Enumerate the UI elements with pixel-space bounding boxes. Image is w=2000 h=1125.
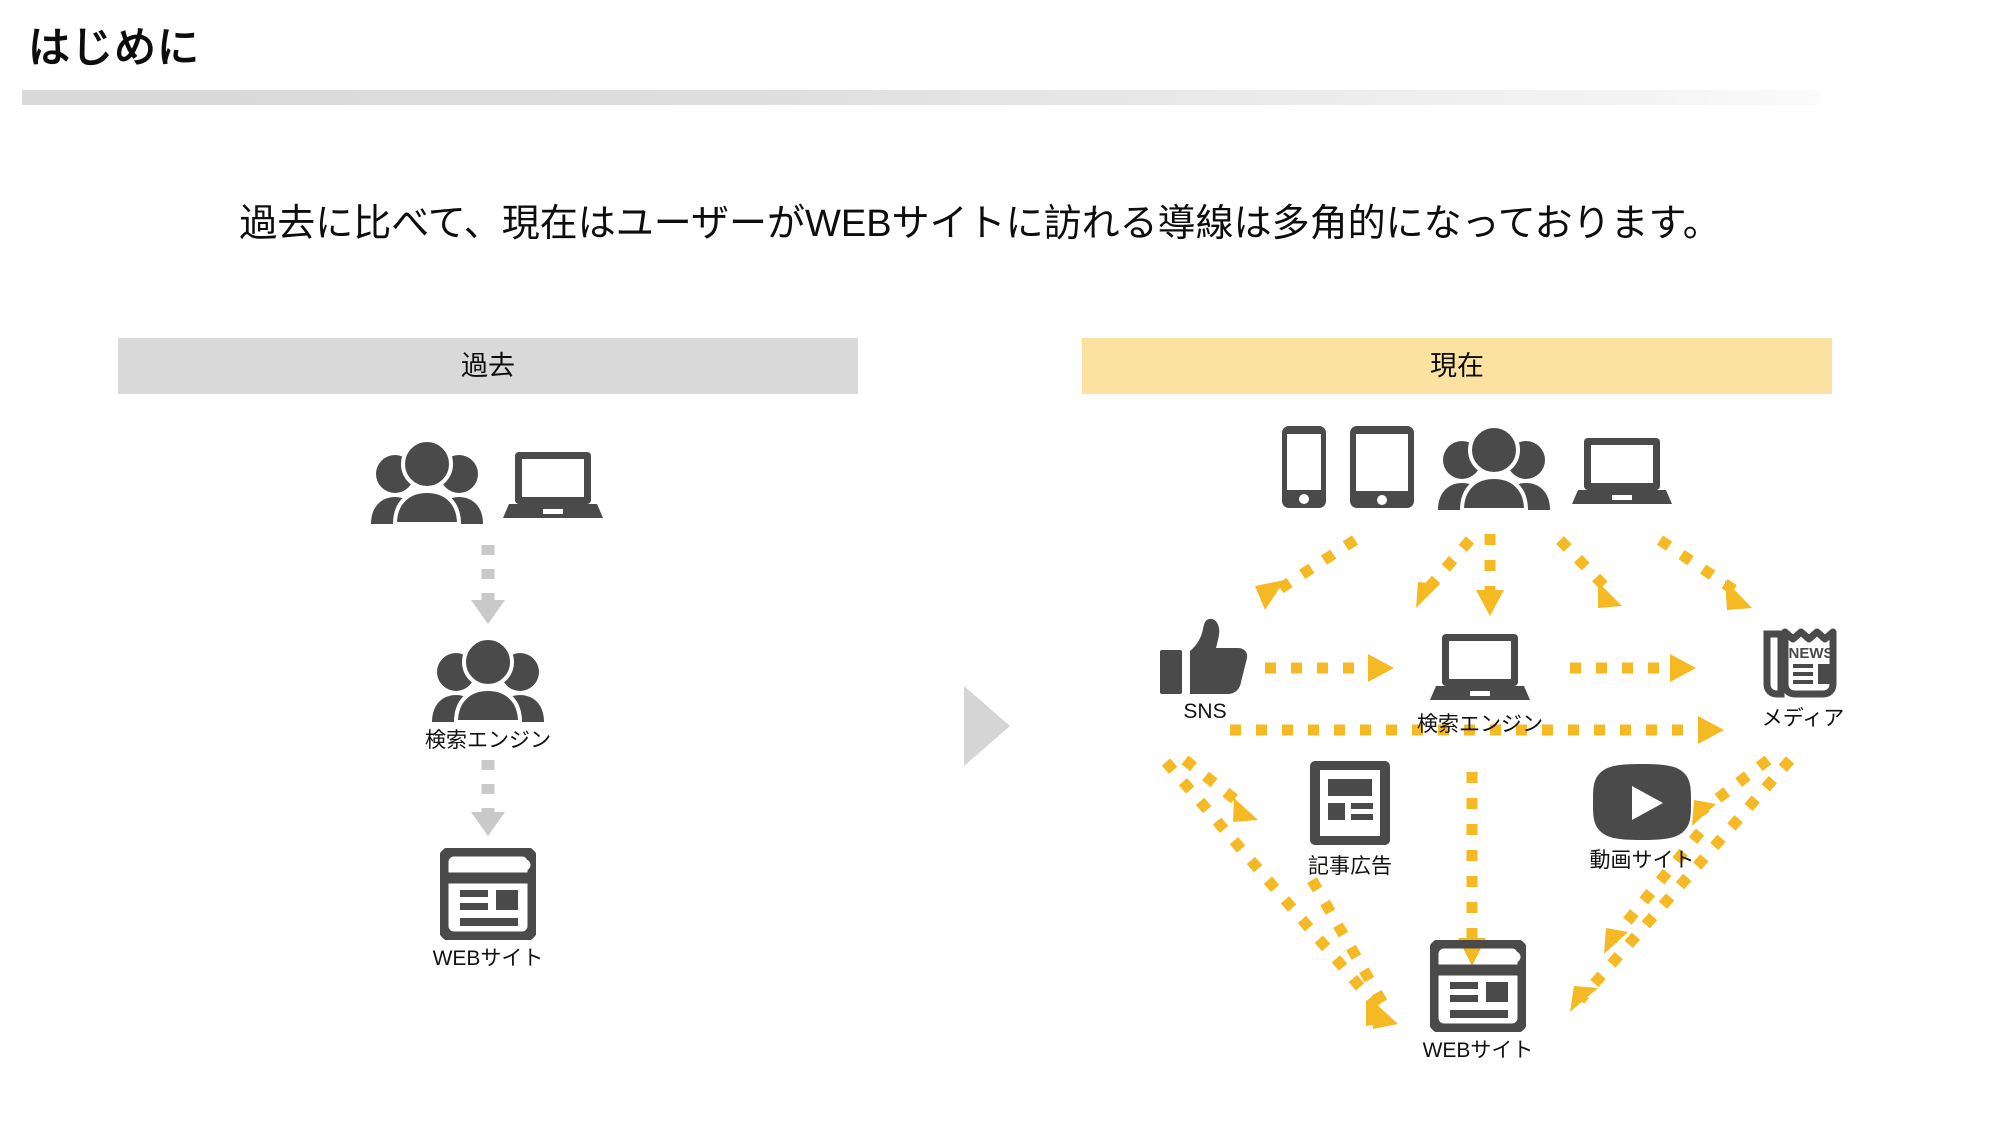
people-group-icon <box>1436 426 1552 510</box>
past-label-website: WEBサイト <box>398 942 578 972</box>
laptop-icon <box>503 448 603 524</box>
newspaper-news-text: NEWS <box>1789 645 1834 662</box>
now-label-article-ad: 記事広告 <box>1272 850 1428 880</box>
thumbs-up-icon <box>1158 618 1252 698</box>
subtitle-text: 過去に比べて、現在はユーザーがWEBサイトに訪れる導線は多角的になっております。 <box>0 192 1960 247</box>
now-flow-arrows: .yd { stroke:#f5b923; stroke-width:11; s… <box>0 0 2000 1125</box>
now-device-row <box>1250 424 1702 510</box>
past-node-users-devices <box>352 440 620 524</box>
title-divider <box>22 90 1820 105</box>
now-node-video-site: 動画サイト <box>1552 762 1732 874</box>
browser-window-icon <box>1430 940 1526 1032</box>
smartphone-icon <box>1280 424 1328 510</box>
column-header-past: 過去 <box>118 338 858 394</box>
now-node-article-ad: 記事広告 <box>1272 758 1428 880</box>
laptop-icon <box>1430 630 1530 706</box>
slide-canvas: はじめに 過去に比べて、現在はユーザーがWEBサイトに訪れる導線は多角的になって… <box>0 0 2000 1125</box>
now-label-website: WEBサイト <box>1388 1034 1568 1064</box>
tablet-icon <box>1348 424 1416 510</box>
people-group-icon <box>430 638 546 722</box>
now-node-sns: SNS <box>1140 618 1270 724</box>
past-node-search-engine: 検索エンジン <box>398 638 578 754</box>
now-label-video-site: 動画サイト <box>1552 844 1732 874</box>
now-node-website: WEBサイト <box>1388 940 1568 1064</box>
article-ad-icon <box>1307 758 1393 848</box>
triangle-right-icon <box>964 686 1010 766</box>
page-title: はじめに <box>28 14 200 75</box>
past-flow-arrows <box>0 0 2000 1125</box>
now-label-media: メディア <box>1728 702 1878 732</box>
people-group-icon <box>369 440 485 524</box>
past-label-search-engine: 検索エンジン <box>398 724 578 754</box>
now-node-search-engine: 検索エンジン <box>1400 630 1560 738</box>
now-node-media: NEWS メディア <box>1728 620 1878 732</box>
now-label-search-engine: 検索エンジン <box>1400 708 1560 738</box>
video-play-icon <box>1591 762 1693 842</box>
past-node-website: WEBサイト <box>398 848 578 972</box>
column-header-now: 現在 <box>1082 338 1832 394</box>
browser-window-icon <box>440 848 536 940</box>
newspaper-icon: NEWS <box>1761 620 1845 700</box>
now-label-sns: SNS <box>1140 700 1270 724</box>
laptop-icon <box>1572 434 1672 510</box>
